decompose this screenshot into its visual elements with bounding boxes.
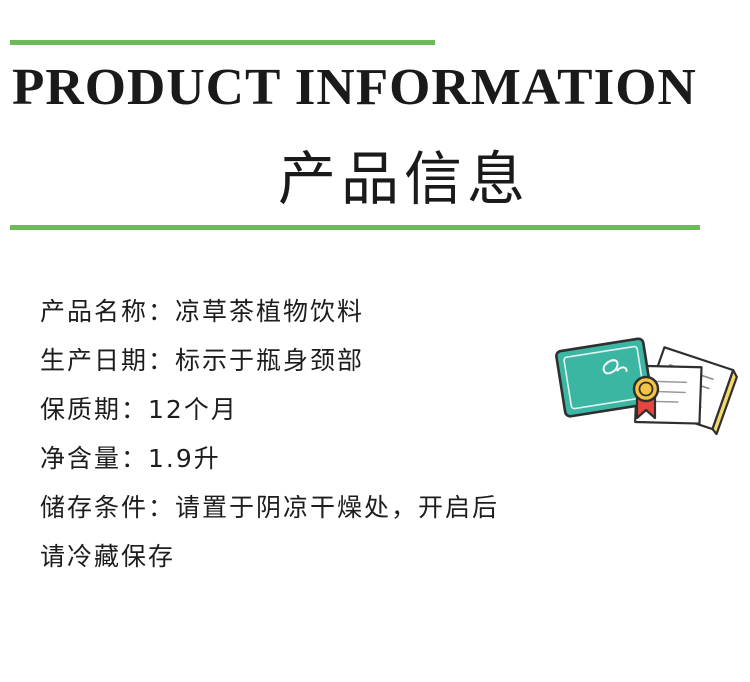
info-label-shelf-life: 保质期：	[40, 395, 148, 424]
info-value-net-content: 1.9升	[148, 444, 221, 473]
bottom-rule	[10, 225, 700, 230]
info-label-product-name: 产品名称：	[40, 297, 175, 326]
info-line-product-name: 产品名称：凉草茶植物饮料	[40, 287, 680, 336]
info-label-storage: 储存条件：	[40, 493, 175, 522]
info-value-storage: 请置于阴凉干燥处，开启后	[175, 493, 499, 522]
info-value-storage-cont: 请冷藏保存	[40, 542, 175, 571]
info-line-net-content: 净含量：1.9升	[40, 434, 680, 483]
info-line-storage-cont: 请冷藏保存	[40, 532, 680, 581]
top-rule	[10, 40, 435, 45]
page-title-chinese: 产品信息	[278, 132, 530, 216]
header-block: PRODUCT INFORMATION 产品信息	[0, 0, 750, 240]
info-value-product-name: 凉草茶植物饮料	[175, 297, 364, 326]
page-title-english: PRODUCT INFORMATION	[12, 58, 697, 117]
certificate-and-documents-illustration	[553, 330, 738, 440]
info-label-net-content: 净含量：	[40, 444, 148, 473]
info-label-production-date: 生产日期：	[40, 346, 175, 375]
info-line-storage: 储存条件：请置于阴凉干燥处，开启后	[40, 483, 680, 532]
info-value-production-date: 标示于瓶身颈部	[175, 346, 364, 375]
info-value-shelf-life: 12个月	[148, 395, 238, 424]
